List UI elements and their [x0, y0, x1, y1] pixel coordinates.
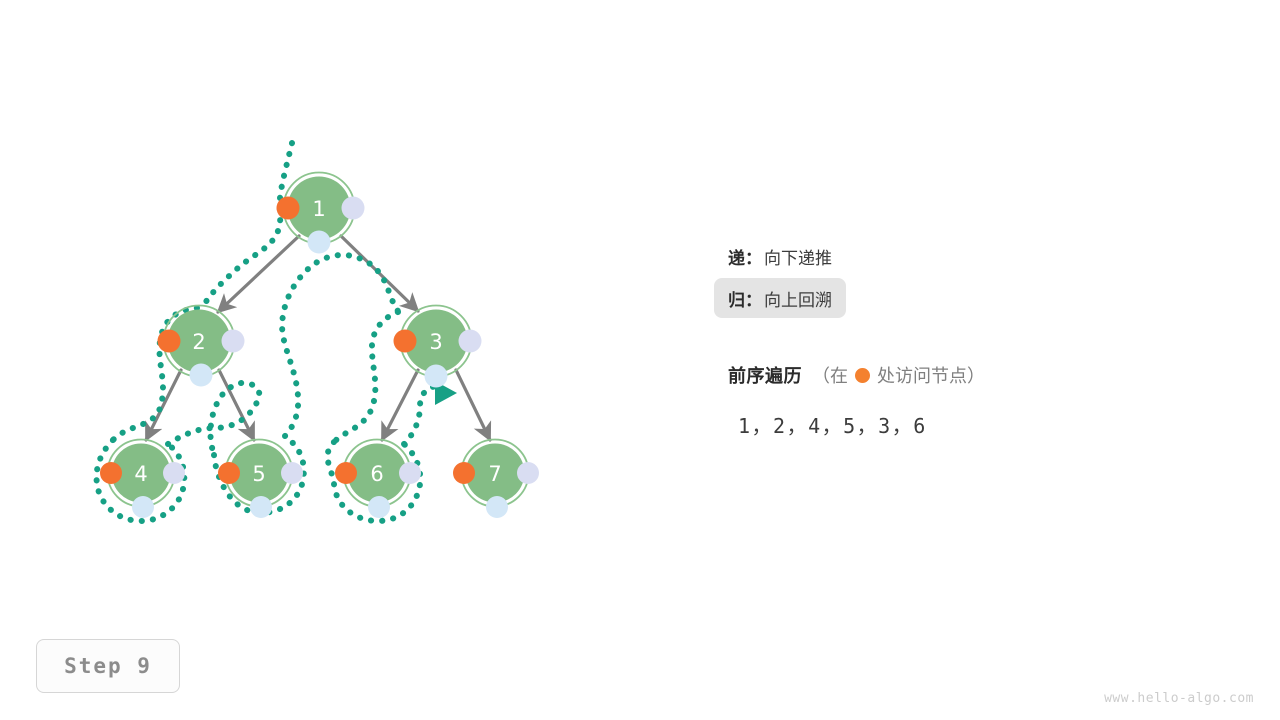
node-5-visit-dot [218, 462, 240, 484]
path-node6-to-current [404, 386, 436, 444]
node-7-label: 7 [488, 462, 501, 486]
traversal-note-suffix: 处访问节点） [877, 362, 985, 388]
edge-2-5 [219, 370, 254, 440]
traversal-note-prefix: （在 [812, 362, 848, 388]
node-3-bottom-dot [425, 365, 448, 388]
legend-backtrack-key: 归： [728, 286, 762, 311]
tree-node-2[interactable]: 2 [158, 306, 245, 387]
diagram-canvas: 1 2 3 4 [0, 0, 1280, 720]
node-5-right-dot [281, 462, 303, 484]
path-node5-to-node3 [282, 255, 398, 436]
node-1-bottom-dot [308, 231, 331, 254]
legend-row-descend: 递： 向下递推 [714, 236, 846, 276]
node-5-label: 5 [252, 462, 265, 486]
node-1-visit-dot [277, 197, 300, 220]
node-6-bottom-dot [368, 496, 390, 518]
step-badge: Step 9 [36, 639, 180, 693]
tree-node-6[interactable]: 6 [335, 440, 421, 519]
edge-3-6 [382, 370, 418, 440]
node-1-right-dot [342, 197, 365, 220]
watermark: www.hello-algo.com [1104, 691, 1254, 706]
node-6-visit-dot [335, 462, 357, 484]
node-3-right-dot [459, 330, 482, 353]
binary-tree-graphic: 1 2 3 4 [0, 0, 1280, 720]
visit-marker-dot-icon [855, 368, 870, 383]
tree-node-5[interactable]: 5 [218, 440, 303, 519]
node-6-label: 6 [370, 462, 383, 486]
traversal-title: 前序遍历 [728, 362, 802, 388]
node-4-visit-dot [100, 462, 122, 484]
tree-node-1[interactable]: 1 [277, 173, 365, 254]
node-4-bottom-dot [132, 496, 154, 518]
node-7-right-dot [517, 462, 539, 484]
legend-backtrack-value: 向上回溯 [764, 286, 832, 311]
tree-node-7[interactable]: 7 [453, 440, 539, 519]
traversal-heading: 前序遍历 （在 处访问节点） [728, 362, 985, 388]
edge-3-7 [456, 370, 490, 440]
node-2-label: 2 [192, 330, 205, 354]
node-3-label: 3 [429, 330, 442, 354]
legend-panel: 递： 向下递推 归： 向上回溯 [728, 236, 1248, 320]
traversal-sequence: 1，2，4，5，3，6 [738, 410, 927, 439]
legend-descend-value: 向下递推 [764, 244, 832, 269]
path-node3-to-node6 [334, 312, 398, 442]
legend-descend-key: 递： [728, 244, 762, 269]
node-1-label: 1 [312, 197, 325, 221]
node-2-bottom-dot [190, 364, 213, 387]
node-7-visit-dot [453, 462, 475, 484]
node-4-label: 4 [134, 462, 147, 486]
edge-2-4 [146, 370, 181, 440]
path-node4-to-node5 [168, 383, 259, 455]
node-6-right-dot [399, 462, 421, 484]
node-3-visit-dot [394, 330, 417, 353]
traversal-note: （在 处访问节点） [812, 362, 985, 388]
tree-node-3[interactable]: 3 [394, 306, 482, 388]
node-7-bottom-dot [486, 496, 508, 518]
node-2-right-dot [222, 330, 245, 353]
legend-row-backtrack: 归： 向上回溯 [714, 278, 846, 318]
node-4-right-dot [163, 462, 185, 484]
node-2-visit-dot [158, 330, 181, 353]
node-5-bottom-dot [250, 496, 272, 518]
